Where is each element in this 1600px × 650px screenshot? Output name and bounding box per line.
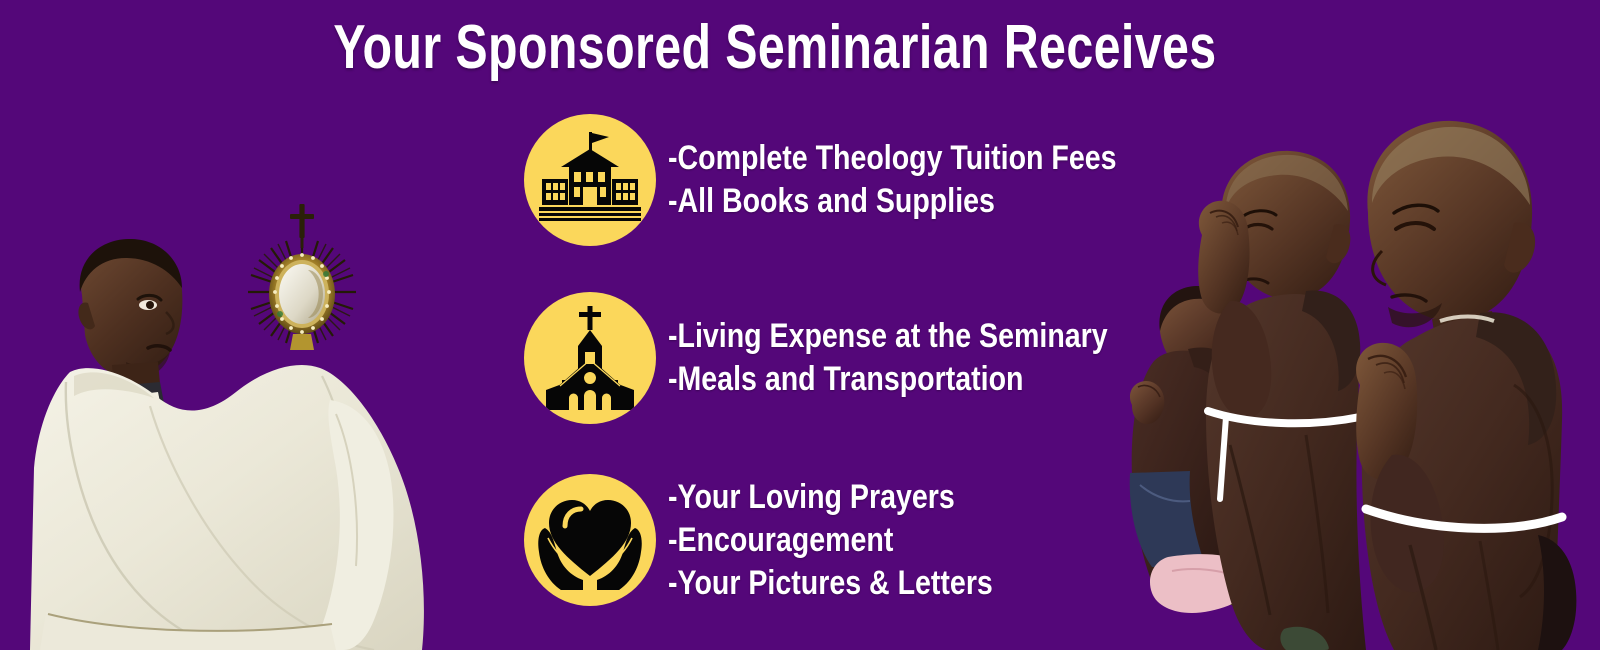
benefit-row: -Complete Theology Tuition Fees -All Boo… xyxy=(524,114,1202,246)
page-title: Your Sponsored Seminarian Receives xyxy=(171,12,1380,84)
benefit-line: -Complete Theology Tuition Fees xyxy=(668,137,1117,180)
sponsorship-banner: Your Sponsored Seminarian Receives xyxy=(0,0,1600,650)
benefit-text: -Living Expense at the Seminary -Meals a… xyxy=(668,315,1191,401)
praying-hands-middle xyxy=(1198,201,1249,314)
school-building-icon xyxy=(524,114,656,246)
benefit-text: -Complete Theology Tuition Fees -All Boo… xyxy=(668,137,1202,223)
monstrance-graphic xyxy=(248,204,356,350)
priest-holding-monstrance-photo xyxy=(30,200,450,650)
benefit-line: -Living Expense at the Seminary xyxy=(668,315,1108,358)
church-icon xyxy=(524,292,656,424)
hands-holding-heart-icon xyxy=(524,474,656,606)
benefit-line: -Your Pictures & Letters xyxy=(668,562,993,605)
benefit-line: -All Books and Supplies xyxy=(668,180,1117,223)
friar-front xyxy=(1356,121,1576,650)
benefit-line: -Encouragement xyxy=(668,519,993,562)
monstrance-cross xyxy=(290,204,314,238)
priest-head xyxy=(78,239,182,379)
benefit-row: -Living Expense at the Seminary -Meals a… xyxy=(524,292,1191,424)
benefit-line: -Your Loving Prayers xyxy=(668,476,993,519)
benefit-text: -Your Loving Prayers -Encouragement -You… xyxy=(668,476,1055,605)
humeral-veil xyxy=(30,365,424,650)
benefit-row: -Your Loving Prayers -Encouragement -You… xyxy=(524,474,1055,606)
benefit-line: -Meals and Transportation xyxy=(668,358,1108,401)
